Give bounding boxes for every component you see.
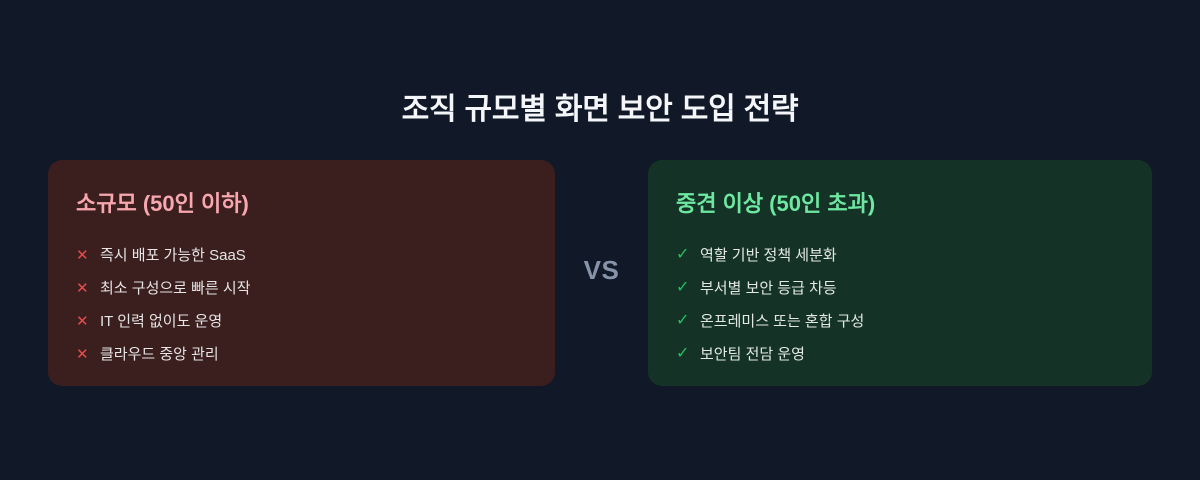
list-item-label: 온프레미스 또는 혼합 구성: [700, 314, 864, 329]
list-item-label: 보안팀 전담 운영: [700, 347, 805, 362]
check-icon: ✓: [676, 280, 700, 296]
panel-small-org-feature-list: ✕ 즉시 배포 가능한 SaaS ✕ 최소 구성으로 빠른 시작 ✕ IT 인력…: [76, 239, 555, 371]
cross-icon: ✕: [76, 281, 100, 296]
list-item: ✓ 온프레미스 또는 혼합 구성: [676, 305, 1152, 338]
list-item-label: 최소 구성으로 빠른 시작: [100, 281, 251, 296]
page-title: 조직 규모별 화면 보안 도입 전략: [0, 92, 1200, 128]
check-icon: ✓: [676, 313, 700, 329]
list-item-label: IT 인력 없이도 운영: [100, 314, 222, 329]
list-item-label: 부서별 보안 등급 차등: [700, 281, 837, 296]
list-item-label: 역할 기반 정책 세분화: [700, 248, 837, 263]
list-item: ✓ 부서별 보안 등급 차등: [676, 272, 1152, 305]
list-item-label: 즉시 배포 가능한 SaaS: [100, 248, 246, 263]
list-item: ✕ IT 인력 없이도 운영: [76, 305, 555, 338]
list-item: ✕ 최소 구성으로 빠른 시작: [76, 272, 555, 305]
panel-small-org: 소규모 (50인 이하) ✕ 즉시 배포 가능한 SaaS ✕ 최소 구성으로 …: [48, 160, 555, 386]
cross-icon: ✕: [76, 314, 100, 329]
list-item: ✕ 클라우드 중앙 관리: [76, 338, 555, 371]
cross-icon: ✕: [76, 248, 100, 263]
check-icon: ✓: [676, 346, 700, 362]
comparison-infographic: 조직 규모별 화면 보안 도입 전략 소규모 (50인 이하) ✕ 즉시 배포 …: [0, 0, 1200, 480]
panel-large-org-heading: 중견 이상 (50인 초과): [676, 190, 1152, 218]
panel-large-org: 중견 이상 (50인 초과) ✓ 역할 기반 정책 세분화 ✓ 부서별 보안 등…: [648, 160, 1152, 386]
list-item: ✓ 보안팀 전담 운영: [676, 338, 1152, 371]
list-item: ✕ 즉시 배포 가능한 SaaS: [76, 239, 555, 272]
list-item-label: 클라우드 중앙 관리: [100, 347, 219, 362]
panel-small-org-heading: 소규모 (50인 이하): [76, 190, 555, 218]
cross-icon: ✕: [76, 347, 100, 362]
check-icon: ✓: [676, 247, 700, 263]
vs-divider-label: VS: [555, 255, 648, 286]
panel-large-org-feature-list: ✓ 역할 기반 정책 세분화 ✓ 부서별 보안 등급 차등 ✓ 온프레미스 또는…: [676, 239, 1152, 371]
list-item: ✓ 역할 기반 정책 세분화: [676, 239, 1152, 272]
